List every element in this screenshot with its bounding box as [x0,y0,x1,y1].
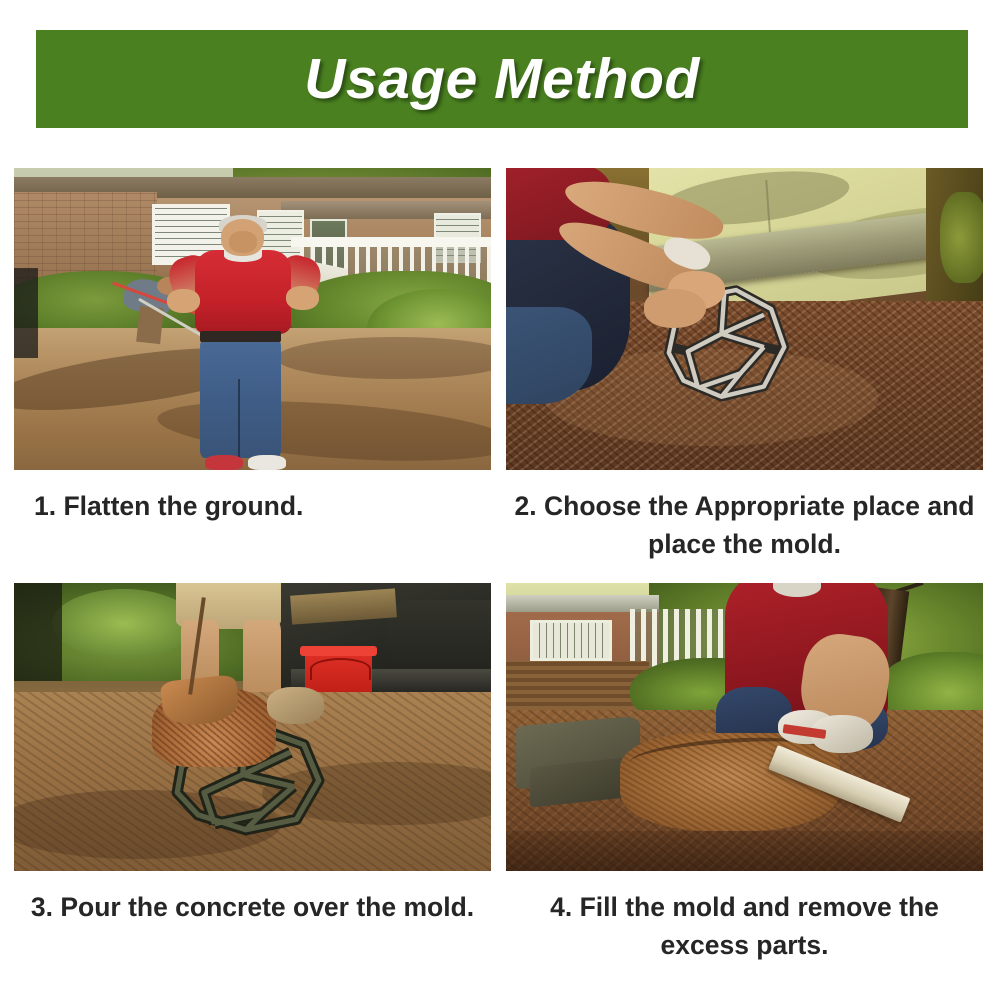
background-bush [52,589,195,658]
house-window [530,620,612,661]
edge-vegetation-leaves [940,192,983,283]
step-3-caption: 3. Pour the concrete over the mold. [14,889,491,927]
worker-glove [267,687,324,724]
person-hand-lower [644,289,706,328]
usage-step-3: 3. Pour the concrete over the mold. [14,583,491,927]
man-blue-jeans [200,337,281,458]
photo-bottom-shadow [506,831,983,871]
photo-left-shadow-edge [14,268,38,359]
man-right-shoe [248,455,286,470]
page-header-banner: Usage Method [36,30,968,128]
man-red-polo-shirt [195,250,290,335]
jeans-center-seam [238,379,240,464]
step-1-caption: 1. Flatten the ground. [14,488,491,526]
worker-right-leg [243,620,281,701]
usage-steps-grid: 1. Flatten the ground. [0,155,1001,1001]
man-left-hand [167,289,200,313]
deck-rail-top [291,237,491,246]
person-jeans-knee [506,307,592,404]
step-4-caption: 4. Fill the mold and remove the excess p… [506,889,983,964]
man-left-shoe [205,455,243,470]
step-4-photo-fill-and-level [506,583,983,871]
usage-step-1: 1. Flatten the ground. [14,168,491,526]
red-bucket-handle [310,658,371,680]
path-maker-mold [620,271,835,410]
red-bucket-rim [300,646,376,656]
man-right-hand [286,286,319,310]
usage-step-4: 4. Fill the mold and remove the excess p… [506,583,983,964]
step-2-caption: 2. Choose the Appropriate place and plac… [506,488,983,563]
man-face [229,231,258,252]
step-1-photo-flatten-ground [14,168,491,470]
page-title: Usage Method [304,46,700,112]
usage-step-2: 2. Choose the Appropriate place and plac… [506,168,983,563]
step-3-photo-pour-concrete [14,583,491,871]
photo-left-shadow-edge [14,583,62,681]
man-belt [200,331,281,342]
step-2-photo-place-mold [506,168,983,470]
